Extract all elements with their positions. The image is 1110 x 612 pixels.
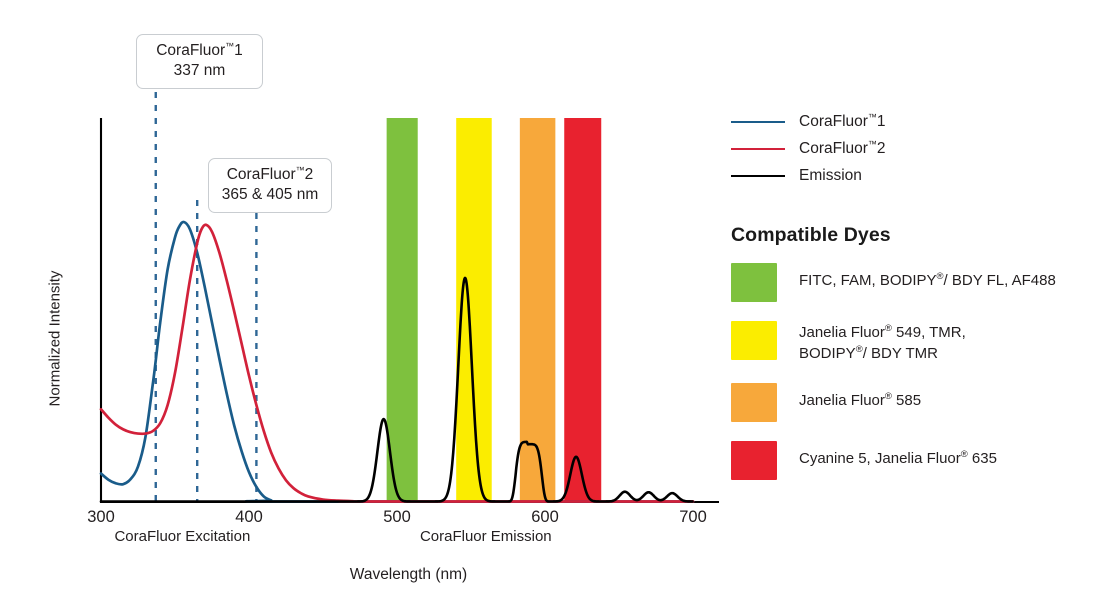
dye-label-line: FITC, FAM, BODIPY®/ BDY FL, AF488 [799,271,1056,292]
dye-label-line: Janelia Fluor® 585 [799,391,921,412]
dye-item-label: FITC, FAM, BODIPY®/ BDY FL, AF488 [799,263,1056,292]
dye-label-line: Janelia Fluor® 549, TMR, [799,323,966,344]
dye-item-label: Janelia Fluor® 585 [799,383,921,412]
dye-item-3: Janelia Fluor® 585 [731,383,1101,422]
dye-item-2: Janelia Fluor® 549, TMR,BODIPY®/ BDY TMR [731,321,1101,364]
dye-item-label: Cyanine 5, Janelia Fluor® 635 [799,441,997,470]
trademark-symbol: ™ [225,41,234,51]
callout-corafluor2: CoraFluor™2 365 & 405 nm [208,158,332,213]
dye-color-swatch [731,321,777,360]
registered-symbol: ® [937,271,944,282]
registered-symbol: ® [885,323,892,334]
right-panel: CoraFluor™1CoraFluor™2Emission Compatibl… [731,108,1101,499]
x-tick-700: 700 [653,508,733,527]
x-axis-region-label-emission: CoraFluor Emission [336,528,636,545]
callout-corafluor1: CoraFluor™1 337 nm [136,34,263,89]
trademark-symbol: ™ [296,165,305,175]
legend-item-2: CoraFluor™2 [731,135,1101,162]
x-tick-400: 400 [209,508,289,527]
callout-corafluor2-line2: 365 & 405 nm [221,185,319,205]
orange-band [520,118,556,502]
x-tick-600: 600 [505,508,585,527]
dye-label-line: BODIPY®/ BDY TMR [799,344,966,365]
trademark-symbol: ™ [868,138,877,148]
dye-color-swatch [731,441,777,480]
dye-color-swatch [731,263,777,302]
x-axis-region-label-excitation: CoraFluor Excitation [32,528,332,545]
series-legend: CoraFluor™1CoraFluor™2Emission [731,108,1101,189]
chart-root: CoraFluor™1 337 nm CoraFluor™2 365 & 405… [0,0,1110,612]
registered-symbol: ® [856,344,863,355]
legend-item-3: Emission [731,162,1101,189]
legend-item-label: Emission [799,167,862,185]
dye-item-4: Cyanine 5, Janelia Fluor® 635 [731,441,1101,480]
callout-corafluor1-line1: CoraFluor™1 [149,41,250,61]
red-band [564,118,601,502]
legend-item-label: CoraFluor™1 [799,113,886,131]
legend-line-swatch [731,175,785,177]
x-tick-300: 300 [61,508,141,527]
dye-color-swatch [731,383,777,422]
x-tick-500: 500 [357,508,437,527]
dye-label-line: Cyanine 5, Janelia Fluor® 635 [799,449,997,470]
legend-line-swatch [731,148,785,150]
emission-bands-layer [387,118,602,502]
registered-symbol: ® [885,391,892,402]
legend-line-swatch [731,121,785,123]
green-band [387,118,418,502]
trademark-symbol: ™ [868,111,877,121]
callout-corafluor2-line1: CoraFluor™2 [221,165,319,185]
callout-corafluor1-line2: 337 nm [149,61,250,81]
registered-symbol: ® [961,449,968,460]
legend-item-1: CoraFluor™1 [731,108,1101,135]
dye-item-label: Janelia Fluor® 549, TMR,BODIPY®/ BDY TMR [799,321,966,364]
legend-item-label: CoraFluor™2 [799,140,886,158]
compatible-dyes-list: FITC, FAM, BODIPY®/ BDY FL, AF488Janelia… [731,263,1101,480]
x-axis-title: Wavelength (nm) [0,566,1110,584]
compatible-dyes-title: Compatible Dyes [731,224,1101,247]
dye-item-1: FITC, FAM, BODIPY®/ BDY FL, AF488 [731,263,1101,302]
y-axis-title: Normalized Intensity [47,249,64,429]
